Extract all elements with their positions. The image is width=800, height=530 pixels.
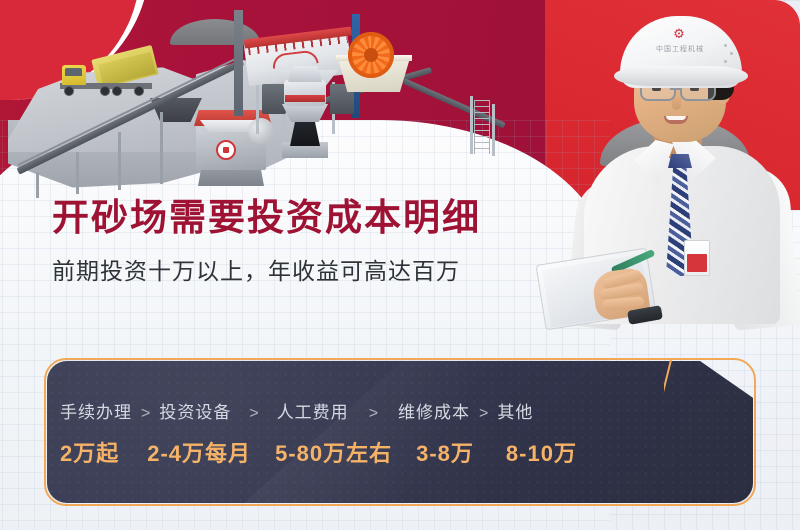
cost-value-1: 2-4万每月 [147, 436, 251, 468]
page-title: 开砂场需要投资成本明细 [52, 196, 481, 240]
sand-washing-wheel-hub [364, 48, 378, 62]
conveyor-support-leg [118, 132, 121, 190]
truck-wheel [134, 86, 144, 96]
cost-value-2: 5-80万左右 [275, 436, 392, 468]
cost-value: 8-10万 [506, 436, 577, 468]
promo-banner: ⚙ 中国工程机械 开砂场需要投资成本明细 前期投资十万以上，年收益可高达百万 手… [0, 0, 800, 530]
cost-value: 2-4万每月 [147, 436, 251, 468]
hard-hat-brand-text: 中国工程机械 [648, 44, 712, 56]
id-badge-photo [687, 254, 707, 272]
cost-item-3: 维修成本 > [398, 398, 497, 423]
jaw-crusher-flywheel [248, 118, 274, 144]
conveyor-support-leg [160, 112, 163, 184]
belt-conveyor-washer-out [403, 78, 506, 128]
hard-hat-vent [724, 44, 727, 47]
access-ladder-icon [474, 100, 490, 154]
conveyor-support-leg [470, 96, 473, 154]
cost-value: 2万起 [60, 436, 119, 468]
cone-crusher-body [284, 80, 326, 106]
conveyor-support-leg [76, 152, 79, 194]
cost-breakdown-banner: 手续办理 > 投资设备 > 人工费用 > 维修成本 > 其他 [44, 358, 756, 506]
cost-item-4: 其他 [497, 398, 533, 423]
cost-label: 投资设备 [159, 398, 231, 423]
worker-tie-knot [668, 154, 692, 168]
cost-value-0: 2万起 [60, 436, 119, 468]
screen-support-leg [256, 82, 259, 134]
cost-value: 3-8万 [416, 436, 474, 468]
cost-value-3: 3-8万 [416, 436, 474, 468]
chevron-right-icon: > [479, 405, 488, 423]
truck-wheel [112, 86, 122, 96]
cone-crusher-arm [262, 84, 286, 114]
cost-label: 其他 [497, 398, 533, 423]
eyeglasses-bridge [670, 88, 682, 90]
cone-crusher-band [285, 95, 325, 102]
hard-hat-vent [724, 60, 727, 63]
hero-text-block: 开砂场需要投资成本明细 前期投资十万以上，年收益可高达百万 [52, 196, 481, 286]
cost-value: 5-80万左右 [275, 436, 392, 468]
conveyor-support-leg [492, 104, 495, 156]
chevron-right-icon: > [369, 405, 378, 423]
truck-wheel [64, 86, 74, 96]
cone-crusher-hopper [288, 66, 322, 82]
cost-item-1: 投资设备 > [159, 398, 276, 423]
conveyor-support-leg [36, 172, 39, 198]
hard-hat-vent [730, 52, 733, 55]
cost-label: 人工费用 [277, 398, 349, 423]
cost-label: 维修成本 [398, 398, 470, 423]
page-subtitle: 前期投资十万以上，年收益可高达百万 [52, 252, 481, 286]
cost-value-4: 8-10万 [506, 436, 577, 468]
chevron-right-icon: > [249, 405, 258, 423]
truck-window [65, 68, 82, 76]
screen-tower-left [234, 10, 243, 116]
illustration-sand-production-line [0, 0, 560, 210]
hard-hat-brim [614, 66, 748, 86]
brand-badge-icon [216, 140, 236, 160]
dump-truck-icon [56, 52, 161, 100]
chevron-right-icon: > [141, 405, 150, 423]
cost-label: 手续办理 [60, 398, 132, 423]
cost-item-0: 手续办理 > [60, 398, 159, 423]
cost-rows: 手续办理 > 投资设备 > 人工费用 > 维修成本 > 其他 [44, 358, 756, 506]
worker-teeth [666, 116, 686, 120]
cost-label-row: 手续办理 > 投资设备 > 人工费用 > 维修成本 > 其他 [44, 398, 716, 423]
hard-hat-logo-icon: ⚙ [666, 26, 692, 42]
truck-wheel [100, 86, 110, 96]
cost-value-row: 2万起 2-4万每月 5-80万左右 3-8万 8-10万 [44, 436, 716, 468]
cost-item-2: 人工费用 > [277, 398, 398, 423]
engineer-photo: ⚙ 中国工程机械 [548, 8, 800, 318]
